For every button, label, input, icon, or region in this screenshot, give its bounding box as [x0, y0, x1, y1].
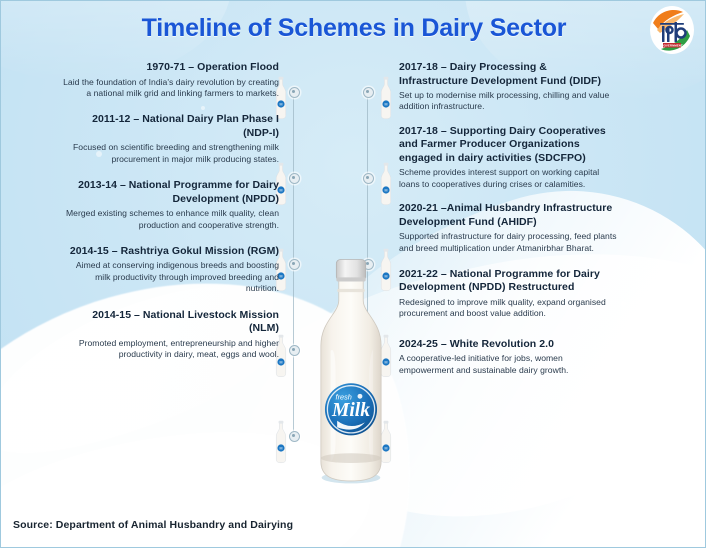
mini-milk-bottle-icon: M [378, 161, 394, 207]
entry-description: Focused on scientific breeding and stren… [61, 142, 279, 165]
entry-title: 2020-21 –Animal Husbandry Infrastructure… [399, 202, 617, 229]
timeline-entry-sdcfpo: 2017-18 – Supporting Dairy Cooperatives … [399, 125, 617, 190]
entry-description: Aimed at conserving indigenous breeds an… [61, 260, 279, 294]
svg-text:M: M [280, 361, 283, 365]
milk-bottle-graphic: fresh Milk [306, 253, 396, 485]
entry-description: A cooperative-led initiative for jobs, w… [399, 353, 617, 376]
header-bar: Timeline of Schemes in Dairy Sector [1, 1, 706, 53]
bubble-decoration [341, 506, 348, 513]
entry-title: 1970-71 – Operation Flood [61, 61, 279, 75]
entry-description: Scheme provides interest support on work… [399, 167, 617, 190]
entry-title: 2014-15 – National Livestock Mission (NL… [61, 309, 279, 336]
pib-logo: GOVERNMENT [647, 5, 697, 55]
page-title: Timeline of Schemes in Dairy Sector [1, 14, 706, 43]
timeline-entry-rgm: 2014-15 – Rashtriya Gokul Mission (RGM) … [61, 245, 279, 295]
timeline-node-right-1 [363, 87, 374, 98]
timeline-entry-didf: 2017-18 – Dairy Processing & Infrastruct… [399, 61, 617, 113]
svg-text:M: M [280, 275, 283, 279]
svg-text:M: M [280, 447, 283, 451]
source-note: Source: Department of Animal Husbandry a… [13, 519, 293, 531]
entry-title: 2017-18 – Dairy Processing & Infrastruct… [399, 61, 617, 88]
entry-title: 2013-14 – National Programme for Dairy D… [61, 179, 279, 206]
svg-text:M: M [280, 103, 283, 107]
entry-title: 2014-15 – Rashtriya Gokul Mission (RGM) [61, 245, 279, 259]
timeline-entry-npdd: 2013-14 – National Programme for Dairy D… [61, 179, 279, 231]
svg-text:Milk: Milk [331, 400, 370, 421]
svg-text:M: M [385, 189, 388, 193]
timeline-node-left-3 [289, 259, 300, 270]
entry-title: 2024-25 – White Revolution 2.0 [399, 338, 617, 352]
entry-description: Supported infrastructure for dairy proce… [399, 231, 617, 254]
entry-title: 2017-18 – Supporting Dairy Cooperatives … [399, 125, 617, 166]
entry-description: Redesigned to improve milk quality, expa… [399, 297, 617, 320]
timeline-entry-white-revolution: 2024-25 – White Revolution 2.0 A coopera… [399, 338, 617, 376]
mini-milk-bottle-icon: M [378, 75, 394, 121]
entry-description: Promoted employment, entrepreneurship an… [61, 338, 279, 361]
entry-description: Set up to modernise milk processing, chi… [399, 90, 617, 113]
timeline-entry-npdd-restructured: 2021-22 – National Programme for Dairy D… [399, 268, 617, 320]
entry-title: 2021-22 – National Programme for Dairy D… [399, 268, 617, 295]
timeline-column-right: 2017-18 – Dairy Processing & Infrastruct… [399, 61, 617, 386]
entry-description: Laid the foundation of India's dairy rev… [61, 77, 279, 100]
bubble-decoration [621, 301, 626, 306]
timeline-node-left-4 [289, 345, 300, 356]
timeline-column-left: 1970-71 – Operation Flood Laid the found… [61, 61, 279, 370]
timeline-entry-ndp-1: 2011-12 – National Dairy Plan Phase I (N… [61, 113, 279, 165]
svg-text:M: M [385, 103, 388, 107]
timeline-entry-operation-flood: 1970-71 – Operation Flood Laid the found… [61, 61, 279, 99]
timeline-entry-nlm: 2014-15 – National Livestock Mission (NL… [61, 309, 279, 361]
infographic-canvas: Timeline of Schemes in Dairy Sector GOVE… [0, 0, 706, 548]
timeline-node-left-2 [289, 173, 300, 184]
timeline-node-left-1 [289, 87, 300, 98]
mini-milk-bottle-icon: M [273, 419, 289, 465]
svg-text:GOVERNMENT: GOVERNMENT [661, 44, 683, 48]
entry-description: Merged existing schemes to enhance milk … [61, 208, 279, 231]
svg-text:M: M [280, 189, 283, 193]
timeline-node-left-5 [289, 431, 300, 442]
entry-title: 2011-12 – National Dairy Plan Phase I (N… [61, 113, 279, 140]
timeline-entry-ahidf: 2020-21 –Animal Husbandry Infrastructure… [399, 202, 617, 254]
timeline-node-right-2 [363, 173, 374, 184]
